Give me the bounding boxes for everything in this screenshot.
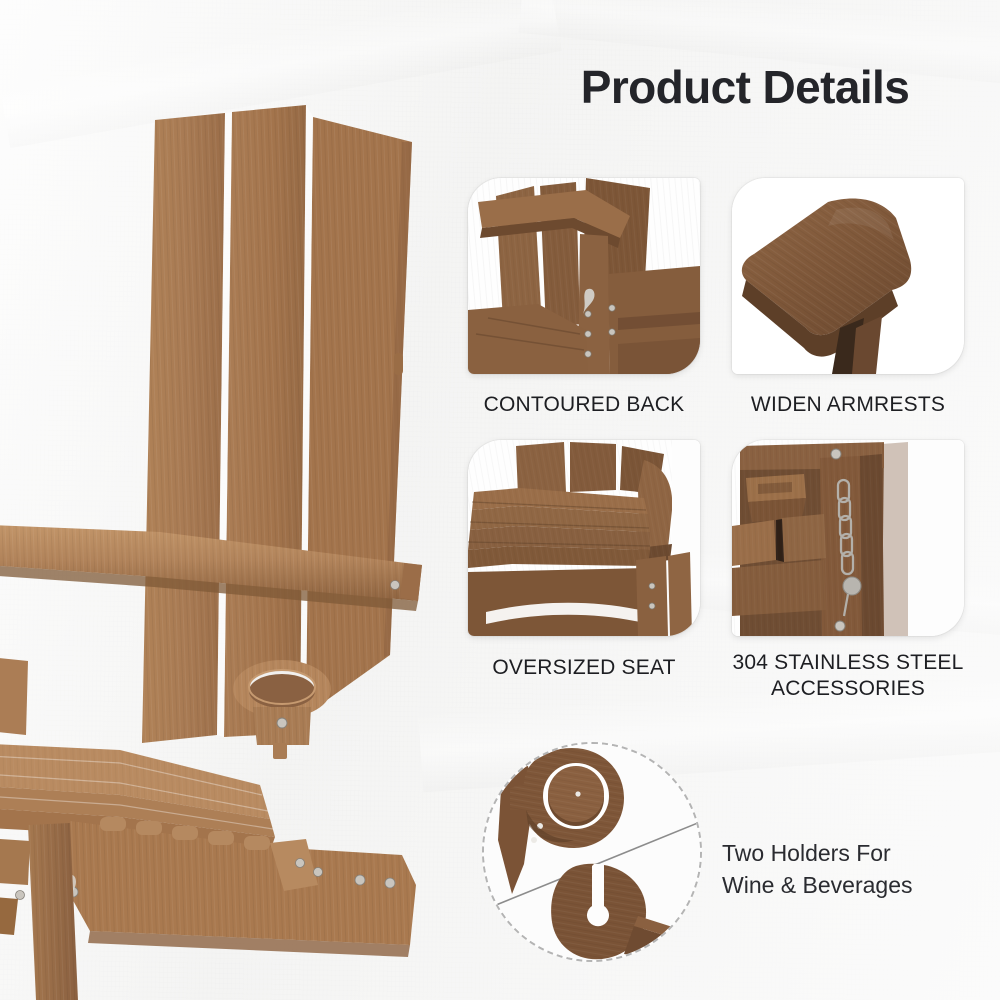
adirondack-chair-illustration (0, 95, 450, 1000)
cup-holder-ring (233, 660, 331, 759)
seat-icon (468, 440, 700, 636)
stainless-knob (843, 577, 861, 595)
cup-holder-bolt (277, 718, 287, 728)
feature-caption-widen-armrests: WIDEN ARMRESTS (722, 392, 974, 418)
caption-line-2: Wine & Beverages (722, 870, 992, 902)
chair-back-icon (468, 178, 700, 374)
chair-backrest (142, 105, 412, 743)
hero-chair-image (0, 95, 450, 1000)
cup-holders-caption: Two Holders For Wine & Beverages (722, 838, 992, 901)
feature-thumbnail-widen-armrests[interactable] (732, 178, 964, 374)
caption-line-1: Two Holders For (722, 838, 992, 870)
cup-holders-image (484, 744, 700, 960)
back-post-knob (394, 353, 403, 375)
chain-icon (732, 440, 964, 636)
product-details-infographic: Product Details (0, 0, 1000, 1000)
cup-holder-icon (484, 744, 700, 960)
feature-caption-contoured-back: CONTOURED BACK (458, 392, 710, 418)
caption-line-1: 304 STAINLESS STEEL (718, 650, 978, 676)
details-panel: Product Details (460, 0, 1000, 1000)
stainless-bolt (835, 621, 845, 631)
feature-caption-oversized-seat: OVERSIZED SEAT (458, 655, 710, 681)
cup-holders-callout[interactable] (482, 742, 702, 962)
feature-thumbnail-contoured-back[interactable] (468, 178, 700, 374)
caption-line-2: ACCESSORIES (718, 676, 978, 702)
armrest-support (0, 655, 28, 735)
page-title: Product Details (535, 60, 955, 114)
feature-caption-stainless-accessories: 304 STAINLESS STEEL ACCESSORIES (718, 650, 978, 701)
feature-thumbnail-oversized-seat[interactable] (468, 440, 700, 636)
stainless-bolt (831, 449, 841, 459)
armrest-icon (732, 178, 964, 374)
armrest-bolt (391, 581, 400, 590)
chair-side-rail (0, 837, 30, 935)
chair-leg-front (28, 823, 78, 1000)
feature-thumbnail-stainless-accessories[interactable] (732, 440, 964, 636)
